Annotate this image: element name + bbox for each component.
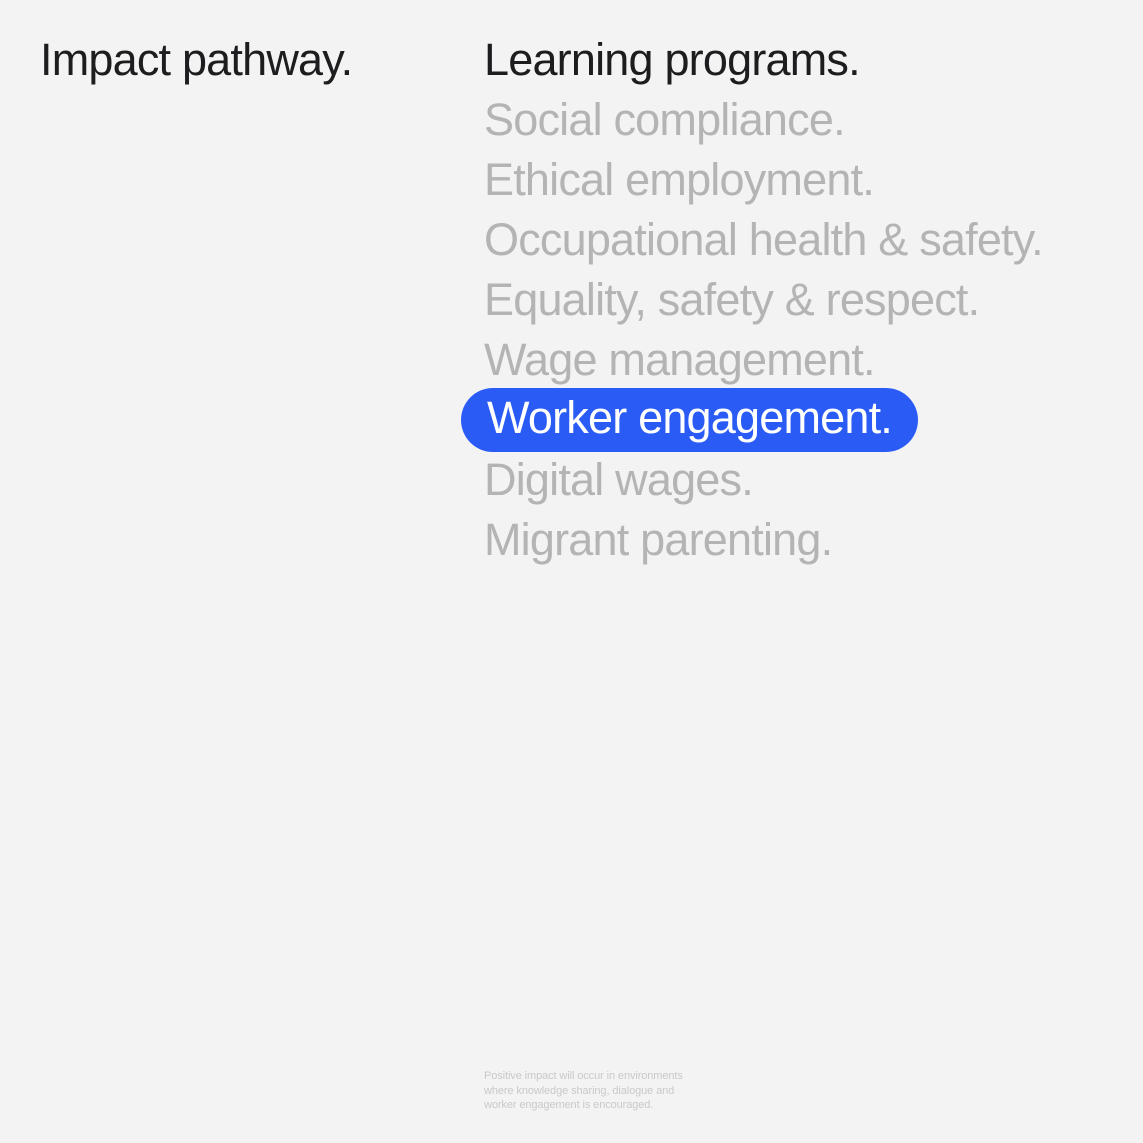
program-item-label: Digital wages. bbox=[484, 450, 753, 510]
program-item-label: Wage management. bbox=[484, 330, 875, 390]
page-root: Impact pathway. Learning programs. Socia… bbox=[0, 0, 1143, 1143]
program-item-label: Social compliance. bbox=[484, 90, 845, 150]
program-item-label: Ethical employment. bbox=[484, 150, 874, 210]
program-item-label: Occupational health & safety. bbox=[484, 210, 1043, 270]
program-item-label: Migrant parenting. bbox=[484, 510, 832, 570]
program-item[interactable]: Social compliance. bbox=[484, 90, 1124, 150]
program-item[interactable]: Digital wages. bbox=[484, 450, 1124, 510]
footer-caption: Positive impact will occur in environmen… bbox=[484, 1069, 744, 1113]
program-item[interactable]: Equality, safety & respect. bbox=[484, 270, 1124, 330]
program-item[interactable]: Wage management. bbox=[484, 330, 1124, 390]
page-title: Impact pathway. bbox=[40, 30, 460, 90]
learning-programs-column: Learning programs. Social compliance.Eth… bbox=[484, 30, 1124, 570]
program-item-selected[interactable]: Worker engagement. bbox=[461, 390, 1124, 450]
program-item[interactable]: Ethical employment. bbox=[484, 150, 1124, 210]
program-item-label: Worker engagement. bbox=[461, 388, 918, 452]
learning-programs-heading: Learning programs. bbox=[484, 30, 1124, 90]
footer-caption-line-3: worker engagement is encouraged. bbox=[484, 1098, 744, 1113]
impact-pathway-column: Impact pathway. bbox=[40, 30, 460, 90]
footer-caption-line-1: Positive impact will occur in environmen… bbox=[484, 1069, 744, 1084]
program-item[interactable]: Migrant parenting. bbox=[484, 510, 1124, 570]
program-item[interactable]: Occupational health & safety. bbox=[484, 210, 1124, 270]
footer-caption-line-2: where knowledge sharing, dialogue and bbox=[484, 1084, 744, 1099]
program-item-label: Equality, safety & respect. bbox=[484, 270, 979, 330]
learning-programs-list: Social compliance.Ethical employment.Occ… bbox=[484, 90, 1124, 570]
